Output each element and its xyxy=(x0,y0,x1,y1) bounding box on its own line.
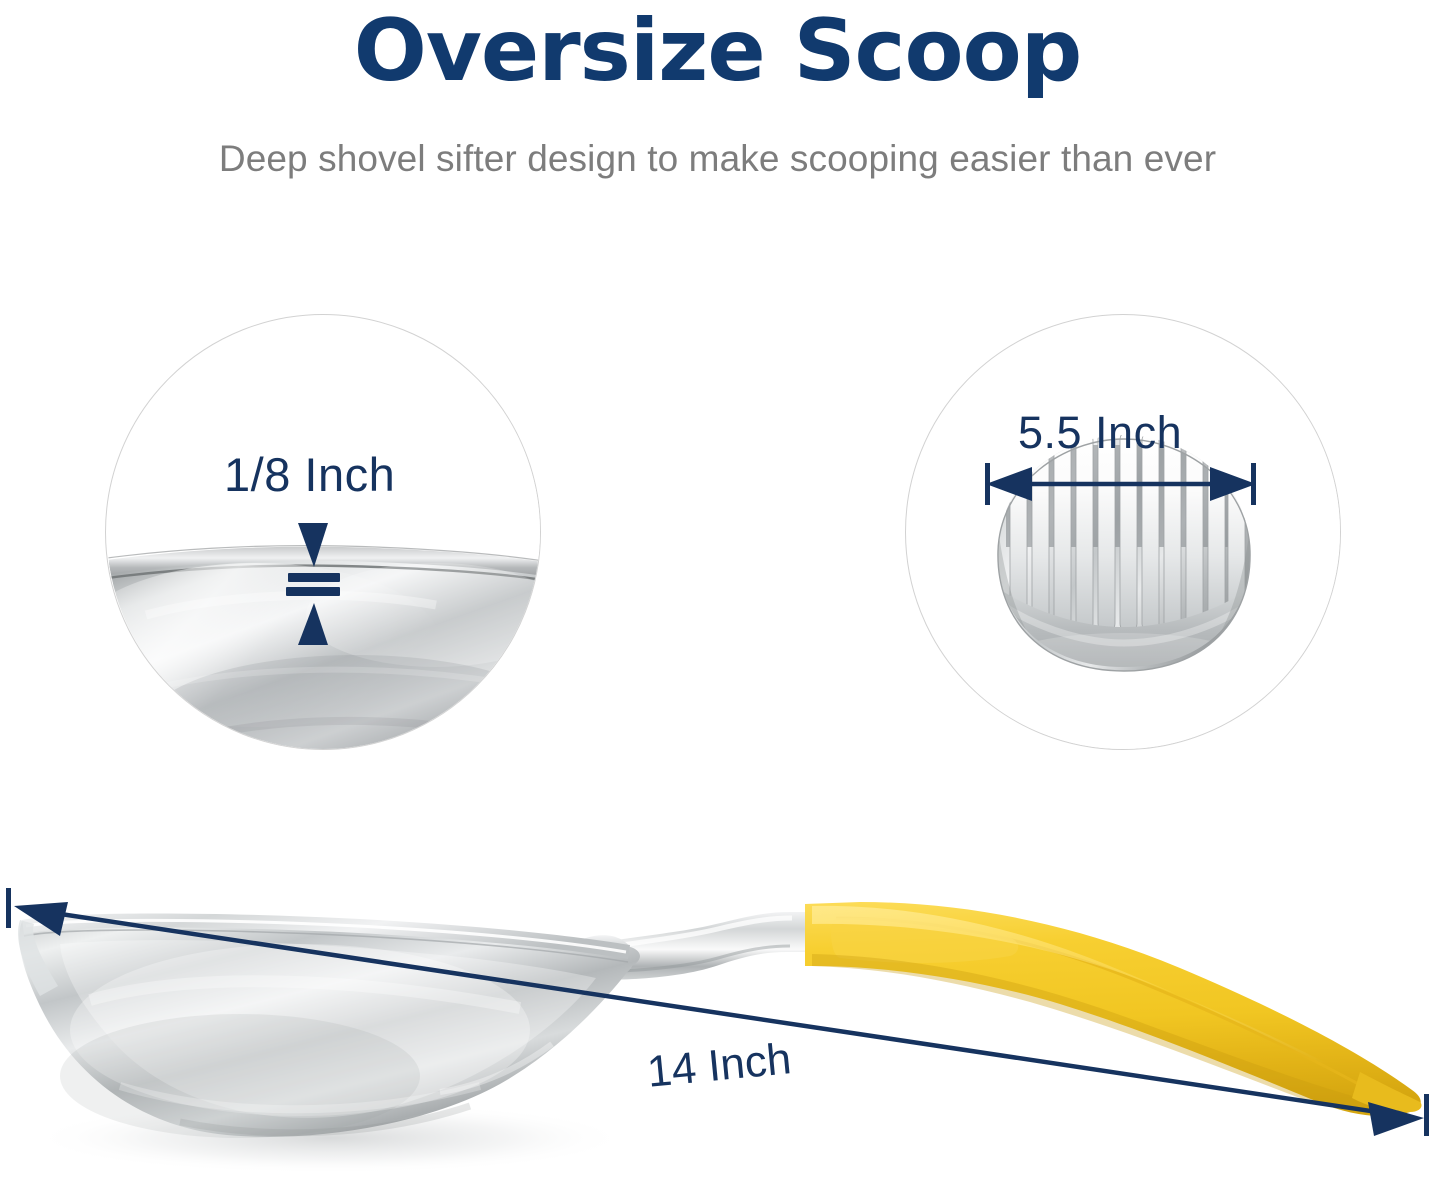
feature-circle-width: 5.5 Inch xyxy=(905,314,1341,750)
stainless-steel-scoop-bowl xyxy=(18,913,640,1138)
product-illustration xyxy=(0,840,1435,1189)
thickness-caption: 1/8 Inch xyxy=(224,447,395,502)
yellow-grip-handle xyxy=(805,902,1422,1116)
width-illustration xyxy=(906,315,1341,750)
page-subtitle: Deep shovel sifter design to make scoopi… xyxy=(0,94,1435,180)
page-title: Oversize Scoop xyxy=(0,0,1435,94)
width-caption: 5.5 Inch xyxy=(1018,407,1182,459)
feature-circle-thickness: 1/8 Inch xyxy=(105,314,541,750)
header: Oversize Scoop Deep shovel sifter design… xyxy=(0,0,1435,180)
thickness-illustration xyxy=(106,315,541,750)
